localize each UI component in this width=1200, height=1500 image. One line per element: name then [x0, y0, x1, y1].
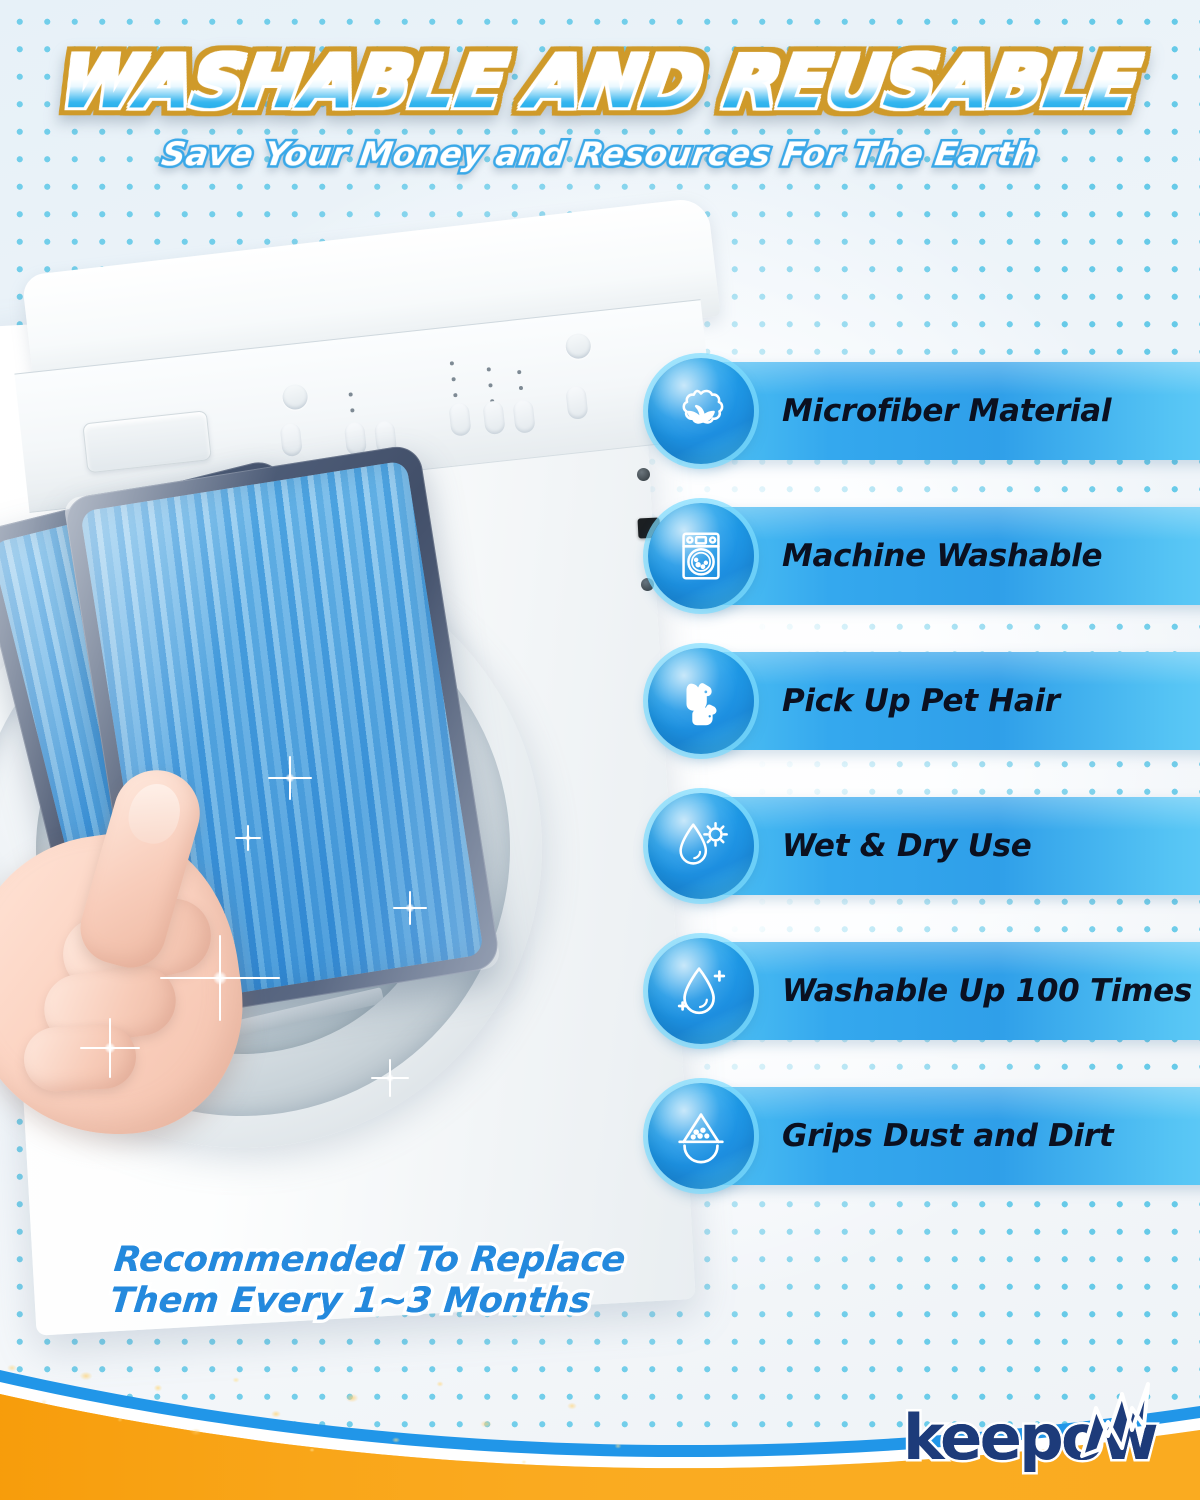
- feature-list: Microfiber Material Mac: [648, 358, 1200, 1228]
- replacement-note-line1-fill: Recommended To Replace: [112, 1240, 627, 1281]
- feature-label: Microfiber Material: [782, 358, 1111, 464]
- dust-droplet-icon: [648, 1083, 754, 1189]
- indicator-dot: [487, 367, 491, 371]
- feature-label: Washable Up 100 Times: [782, 938, 1192, 1044]
- indicator-dot: [517, 370, 521, 374]
- indicator-dot: [348, 392, 352, 396]
- cotton-boll-icon: [648, 358, 754, 464]
- detergent-drawer: [82, 410, 212, 473]
- feature-row-grips-dust-and-dirt[interactable]: Grips Dust and Dirt: [648, 1083, 1200, 1189]
- program-button: [482, 400, 505, 435]
- page-title: WASHABLE AND REUSABLE: [56, 46, 1143, 118]
- droplet-sun-icon: [648, 793, 754, 899]
- feature-label: Machine Washable: [782, 503, 1102, 609]
- program-button: [565, 385, 588, 420]
- feature-label: Grips Dust and Dirt: [782, 1083, 1113, 1189]
- feature-label: Wet & Dry Use: [782, 793, 1031, 899]
- washing-machine-icon: [648, 503, 754, 609]
- header: WASHABLE AND REUSABLE Save Your Money an…: [0, 46, 1200, 173]
- indicator-dot: [453, 393, 457, 397]
- indicator-dot: [350, 408, 354, 412]
- pet-dog-cat-icon: [648, 648, 754, 754]
- droplet-sparkle-icon: [648, 938, 754, 1044]
- thumbnail: [122, 778, 187, 849]
- feature-row-machine-washable[interactable]: Machine Washable: [648, 503, 1200, 609]
- indicator-dot: [450, 361, 454, 365]
- page-subtitle: Save Your Money and Resources For The Ea…: [160, 134, 1041, 173]
- program-button: [279, 422, 302, 457]
- indicator-dot: [451, 377, 455, 381]
- feature-row-pick-up-pet-hair[interactable]: Pick Up Pet Hair: [648, 648, 1200, 754]
- hand-holding-pad: [0, 758, 300, 1178]
- feature-row-wet-dry-use[interactable]: Wet & Dry Use: [648, 793, 1200, 899]
- lightning-bolt-icon: [1074, 1378, 1160, 1470]
- indicator-dot: [519, 386, 523, 390]
- feature-row-microfiber-material[interactable]: Microfiber Material: [648, 358, 1200, 464]
- feature-row-washable-100-times[interactable]: Washable Up 100 Times: [648, 938, 1200, 1044]
- program-button: [448, 402, 471, 437]
- water-droplet-texture: [0, 1350, 660, 1500]
- brand-logo: keepow keepow: [903, 1401, 1156, 1474]
- indicator-dot: [488, 383, 492, 387]
- control-knob: [565, 332, 593, 360]
- product-infographic: WASHABLE AND REUSABLE Save Your Money an…: [0, 0, 1200, 1500]
- ring-finger: [22, 1023, 137, 1093]
- control-knob: [281, 383, 309, 411]
- program-button: [512, 399, 535, 434]
- product-photo: [0, 218, 690, 1348]
- feature-label: Pick Up Pet Hair: [782, 648, 1060, 754]
